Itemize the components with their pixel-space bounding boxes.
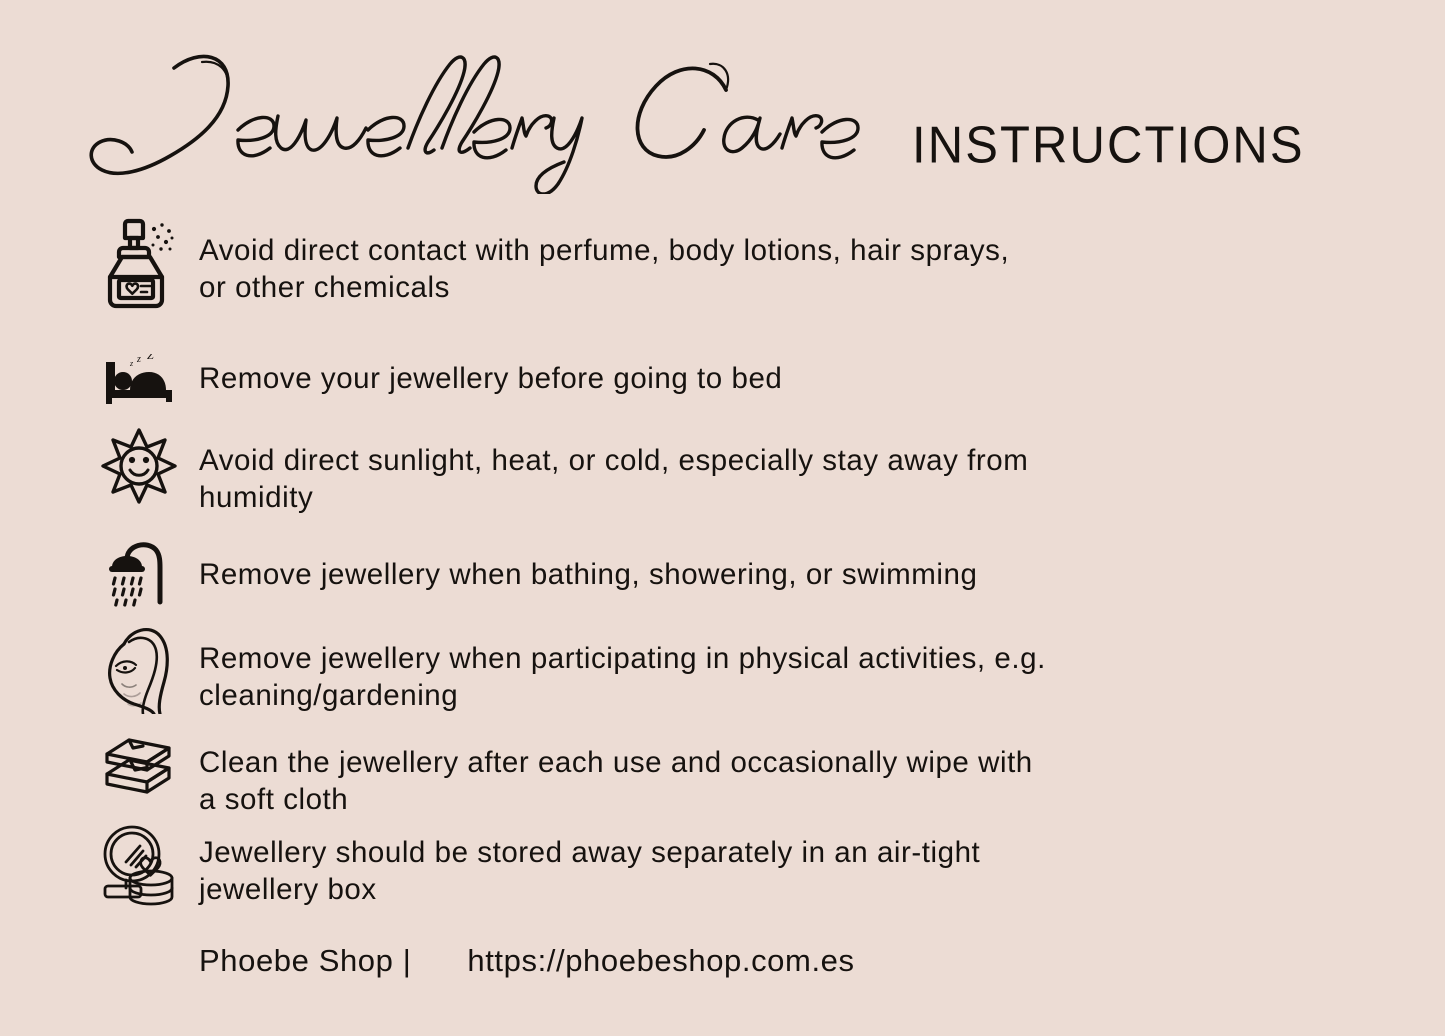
list-item-line: Avoid direct contact with perfume, body … [199,232,1209,269]
side-rail: Handmade with love [1325,0,1445,1036]
list-item-line: Remove jewellery when bathing, showering… [199,556,1209,593]
shower-icon [96,538,182,612]
sun-icon [96,426,182,506]
header: INSTRUCTIONS [0,30,1340,190]
mirror-jewellery-box-icon [96,822,182,908]
shop-name: Phoebe Shop | [199,943,411,979]
list-item-line: cleaning/gardening [199,677,1209,714]
folded-cloth-icon [96,734,182,806]
care-instructions-card: INSTRUCTIONS [0,0,1445,1036]
list-item-line: Clean the jewellery after each use and o… [199,744,1209,781]
svg-text:z: z [129,359,134,368]
list-item-line: Remove jewellery when participating in p… [199,640,1209,677]
list-item-text: Remove jewellery when participating in p… [199,640,1209,714]
woman-profile-icon [96,618,182,714]
page-title-script [78,44,878,194]
list-item-text: Remove jewellery when bathing, showering… [199,556,1209,593]
bed-sleep-icon: z z Z [96,354,182,406]
list-item-line: a soft cloth [199,781,1209,818]
list-item-line: jewellery box [199,871,1209,908]
svg-text:z: z [136,354,141,365]
list-item-line: Jewellery should be stored away separate… [199,834,1209,871]
list-item-line: or other chemicals [199,269,1209,306]
list-item-line: humidity [199,479,1209,516]
list-item-text: Avoid direct sunlight, heat, or cold, es… [199,442,1209,516]
shop-website-link[interactable]: https://phoebeshop.com.es [467,943,854,979]
svg-text:Z: Z [147,354,154,362]
list-item-line: Avoid direct sunlight, heat, or cold, es… [199,442,1209,479]
list-item-text: Clean the jewellery after each use and o… [199,744,1209,818]
list-item-text: Avoid direct contact with perfume, body … [199,232,1209,306]
page-subtitle: INSTRUCTIONS [912,116,1305,175]
footer: Phoebe Shop | https://phoebeshop.com.es [199,943,855,979]
perfume-bottle-icon [96,214,182,310]
list-item-line: Remove your jewellery before going to be… [199,360,1209,397]
list-item-text: Remove your jewellery before going to be… [199,360,1209,397]
list-item-text: Jewellery should be stored away separate… [199,834,1209,908]
